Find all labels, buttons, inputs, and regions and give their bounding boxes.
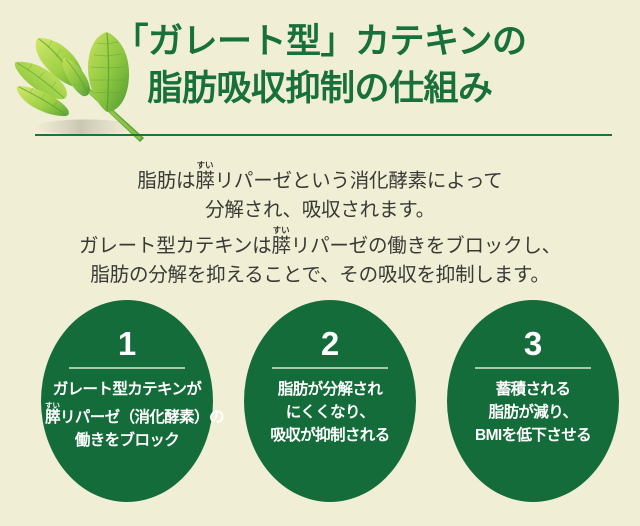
sui-reading-step-1: すい: [45, 401, 60, 410]
body-line-3-suffix: リパーゼの働きをブロックし、: [291, 235, 561, 257]
step-2-line-1: 脂肪が分解され: [248, 378, 412, 401]
step-number-3: 3: [447, 326, 619, 362]
sui-ruby-step-1: 膵すい: [45, 409, 60, 426]
leaf-shadow: [34, 120, 138, 135]
sui-ruby-1: 膵すい: [195, 170, 214, 192]
sui-reading-1: すい: [195, 160, 214, 170]
step-circle-1: 1 ガレート型カテキンが 膵すいリパーゼ（消化酵素）の 働きをブロック: [41, 300, 213, 502]
step-3-line-3: BMIを低下させる: [451, 424, 615, 447]
steps-group: 1 ガレート型カテキンが 膵すいリパーゼ（消化酵素）の 働きをブロック 2 脂肪…: [0, 300, 640, 510]
body-line-4: 脂肪の分解を抑えることで、その吸収を抑制します。: [0, 261, 640, 290]
body-line-1-suffix: リパーゼという消化酵素によって: [215, 170, 503, 192]
step-1-line-2: 膵すいリパーゼ（消化酵素）の: [45, 401, 209, 429]
step-3-line-2: 脂肪が減り、: [451, 401, 615, 424]
body-line-1: 脂肪は膵すいリパーゼという消化酵素によって: [0, 160, 640, 196]
step-text-2: 脂肪が分解され にくくなり、 吸収が抑制される: [244, 378, 416, 447]
body-line-3: ガレート型カテキンは膵すいリパーゼの働きをブロックし、: [0, 225, 640, 261]
sui-reading-2: すい: [271, 225, 290, 235]
step-1-line-1: ガレート型カテキンが: [45, 378, 209, 401]
step-divider-3: [475, 367, 591, 369]
step-2-line-3: 吸収が抑制される: [248, 424, 412, 447]
step-text-3: 蓄積される 脂肪が減り、 BMIを低下させる: [447, 378, 619, 447]
body-line-2: 分解され、吸収されます。: [0, 196, 640, 225]
sui-kanji-1: 膵: [195, 170, 214, 192]
sui-ruby-2: 膵すい: [271, 235, 290, 257]
step-divider-1: [69, 367, 185, 369]
step-circle-2: 2 脂肪が分解され にくくなり、 吸収が抑制される: [244, 300, 416, 502]
step-3-line-1: 蓄積される: [451, 378, 615, 401]
step-1-line-3: 働きをブロック: [45, 429, 209, 452]
step-circle-3: 3 蓄積される 脂肪が減り、 BMIを低下させる: [447, 300, 619, 502]
page-title: 「ガレート型」カテキンの 脂肪吸収抑制の仕組み: [0, 18, 640, 112]
step-number-2: 2: [244, 326, 416, 362]
step-2-line-2: にくくなり、: [248, 401, 412, 424]
step-number-1: 1: [41, 326, 213, 362]
sui-kanji-step-1: 膵: [45, 409, 60, 426]
body-line-1-prefix: 脂肪は: [137, 170, 195, 192]
title-line-1: 「ガレート型」カテキンの: [0, 18, 640, 65]
title-divider: [35, 134, 612, 136]
body-line-3-prefix: ガレート型カテキンは: [79, 235, 271, 257]
body-copy: 脂肪は膵すいリパーゼという消化酵素によって 分解され、吸収されます。 ガレート型…: [0, 160, 640, 290]
step-1-line-2-suffix: リパーゼ（消化酵素）の: [60, 409, 224, 426]
title-line-2: 脂肪吸収抑制の仕組み: [0, 65, 640, 112]
step-text-1: ガレート型カテキンが 膵すいリパーゼ（消化酵素）の 働きをブロック: [41, 378, 213, 452]
step-divider-2: [272, 367, 388, 369]
infographic-root: 「ガレート型」カテキンの 脂肪吸収抑制の仕組み 脂肪は膵すいリパーゼという消化酵…: [0, 0, 640, 526]
sui-kanji-2: 膵: [271, 235, 290, 257]
